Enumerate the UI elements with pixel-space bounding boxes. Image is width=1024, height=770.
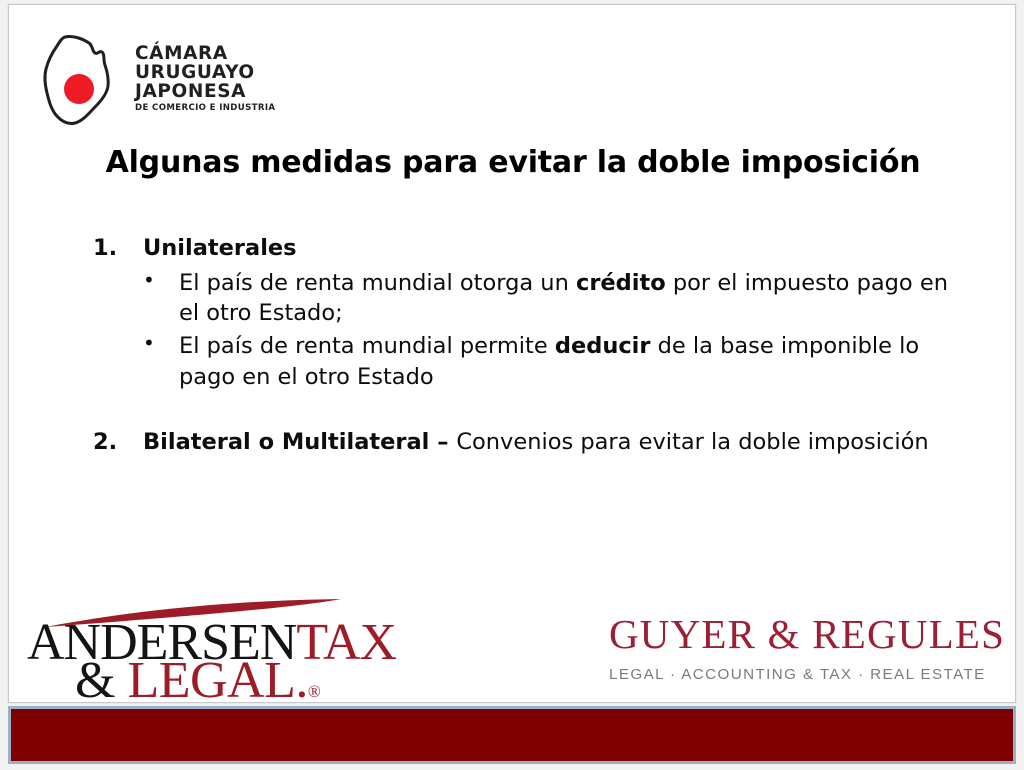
guyer-logo-name: GUYER & REGULES	[609, 613, 969, 656]
bullet-dot-icon: •	[143, 330, 155, 357]
list-item: •El país de renta mundial otorga un créd…	[143, 268, 959, 330]
slide-body: 1. Unilaterales •El país de renta mundia…	[79, 233, 959, 457]
camara-uruguayo-japonesa-logo: CÁMARA URUGUAYO JAPONESA DE COMERCIO E I…	[39, 31, 269, 131]
camara-logo-line-2: URUGUAYO	[135, 64, 275, 83]
andersen-ampersand: &	[75, 652, 115, 703]
registered-trademark-icon: ®	[308, 682, 320, 701]
guyer-and-regules-logo: GUYER & REGULES LEGAL · ACCOUNTING & TAX…	[609, 613, 969, 697]
list-item: •El país de renta mundial permite deduci…	[143, 331, 959, 393]
guyer-logo-tagline: LEGAL · ACCOUNTING & TAX · REAL ESTATE	[609, 666, 969, 683]
numbered-item-1: 1. Unilaterales •El país de renta mundia…	[79, 233, 959, 393]
bullet-1-bold: crédito	[576, 270, 666, 296]
camara-logo-line-3: JAPONESA	[135, 83, 275, 102]
andersen-tax-and-legal-logo: ANDERSENTAX & LEGAL.®	[27, 597, 397, 697]
andersen-logo-line-2: & LEGAL.®	[75, 655, 320, 703]
bullet-dot-icon: •	[143, 267, 155, 294]
item-1-marker: 1.	[93, 233, 117, 264]
list-spacer	[79, 393, 959, 427]
footer-band	[8, 706, 1016, 764]
presentation-slide: CÁMARA URUGUAYO JAPONESA DE COMERCIO E I…	[8, 4, 1016, 703]
bullet-2-part1: El país de renta mundial permite	[179, 333, 555, 359]
item-1-bullet-list: •El país de renta mundial otorga un créd…	[143, 268, 959, 393]
item-2-lead: Bilateral o Multilateral –	[143, 429, 456, 455]
numbered-item-2: 2. Bilateral o Multilateral – Convenios …	[79, 427, 959, 458]
camara-logo-line-4: DE COMERCIO E INDUSTRIA	[135, 104, 275, 113]
uruguay-map-outline-icon	[39, 33, 115, 129]
bullet-2-bold: deducir	[555, 333, 651, 359]
slide-title: Algunas medidas para evitar la doble imp…	[9, 145, 1016, 180]
bullet-1-part1: El país de renta mundial otorga un	[179, 270, 576, 296]
camara-logo-text: CÁMARA URUGUAYO JAPONESA DE COMERCIO E I…	[135, 45, 275, 112]
andersen-word-legal: LEGAL.	[127, 652, 307, 703]
item-1-lead: Unilaterales	[143, 235, 297, 261]
item-2-rest: Convenios para evitar la doble imposició…	[456, 429, 928, 455]
slide-screen: CÁMARA URUGUAYO JAPONESA DE COMERCIO E I…	[0, 0, 1024, 770]
item-2-marker: 2.	[93, 427, 117, 458]
japan-red-circle-icon	[64, 74, 94, 104]
